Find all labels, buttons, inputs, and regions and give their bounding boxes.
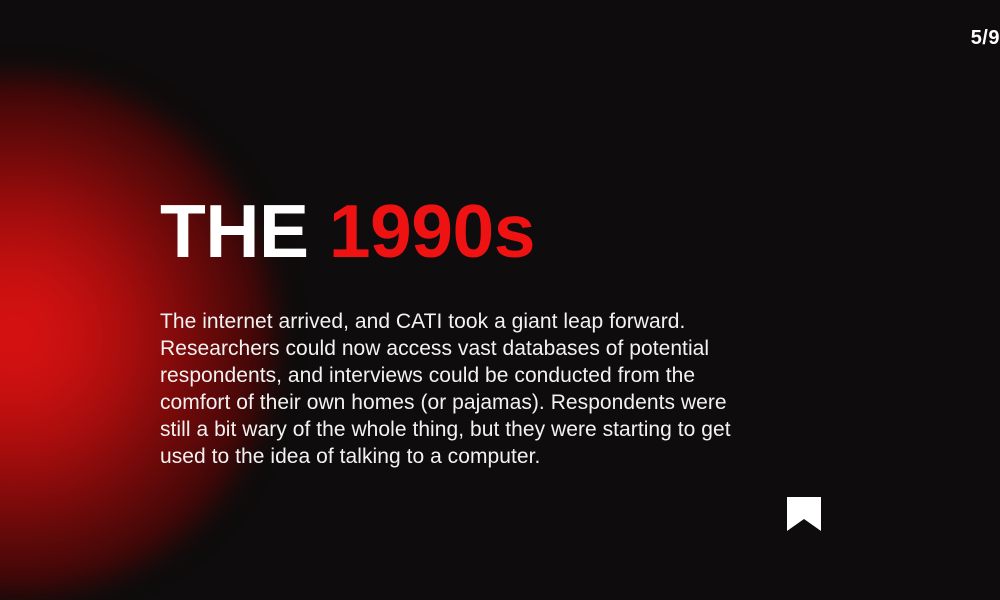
title-accent-word: 1990s xyxy=(329,189,535,273)
slide-canvas: 5/9 THE 1990s The internet arrived, and … xyxy=(0,0,1000,600)
slide-content: THE 1990s The internet arrived, and CATI… xyxy=(160,190,760,470)
page-counter: 5/9 xyxy=(104,26,1000,50)
bookmark-icon xyxy=(787,497,821,531)
title-lead-word: THE xyxy=(160,189,309,273)
page-title: THE 1990s xyxy=(160,190,760,272)
body-paragraph: The internet arrived, and CATI took a gi… xyxy=(160,272,745,470)
